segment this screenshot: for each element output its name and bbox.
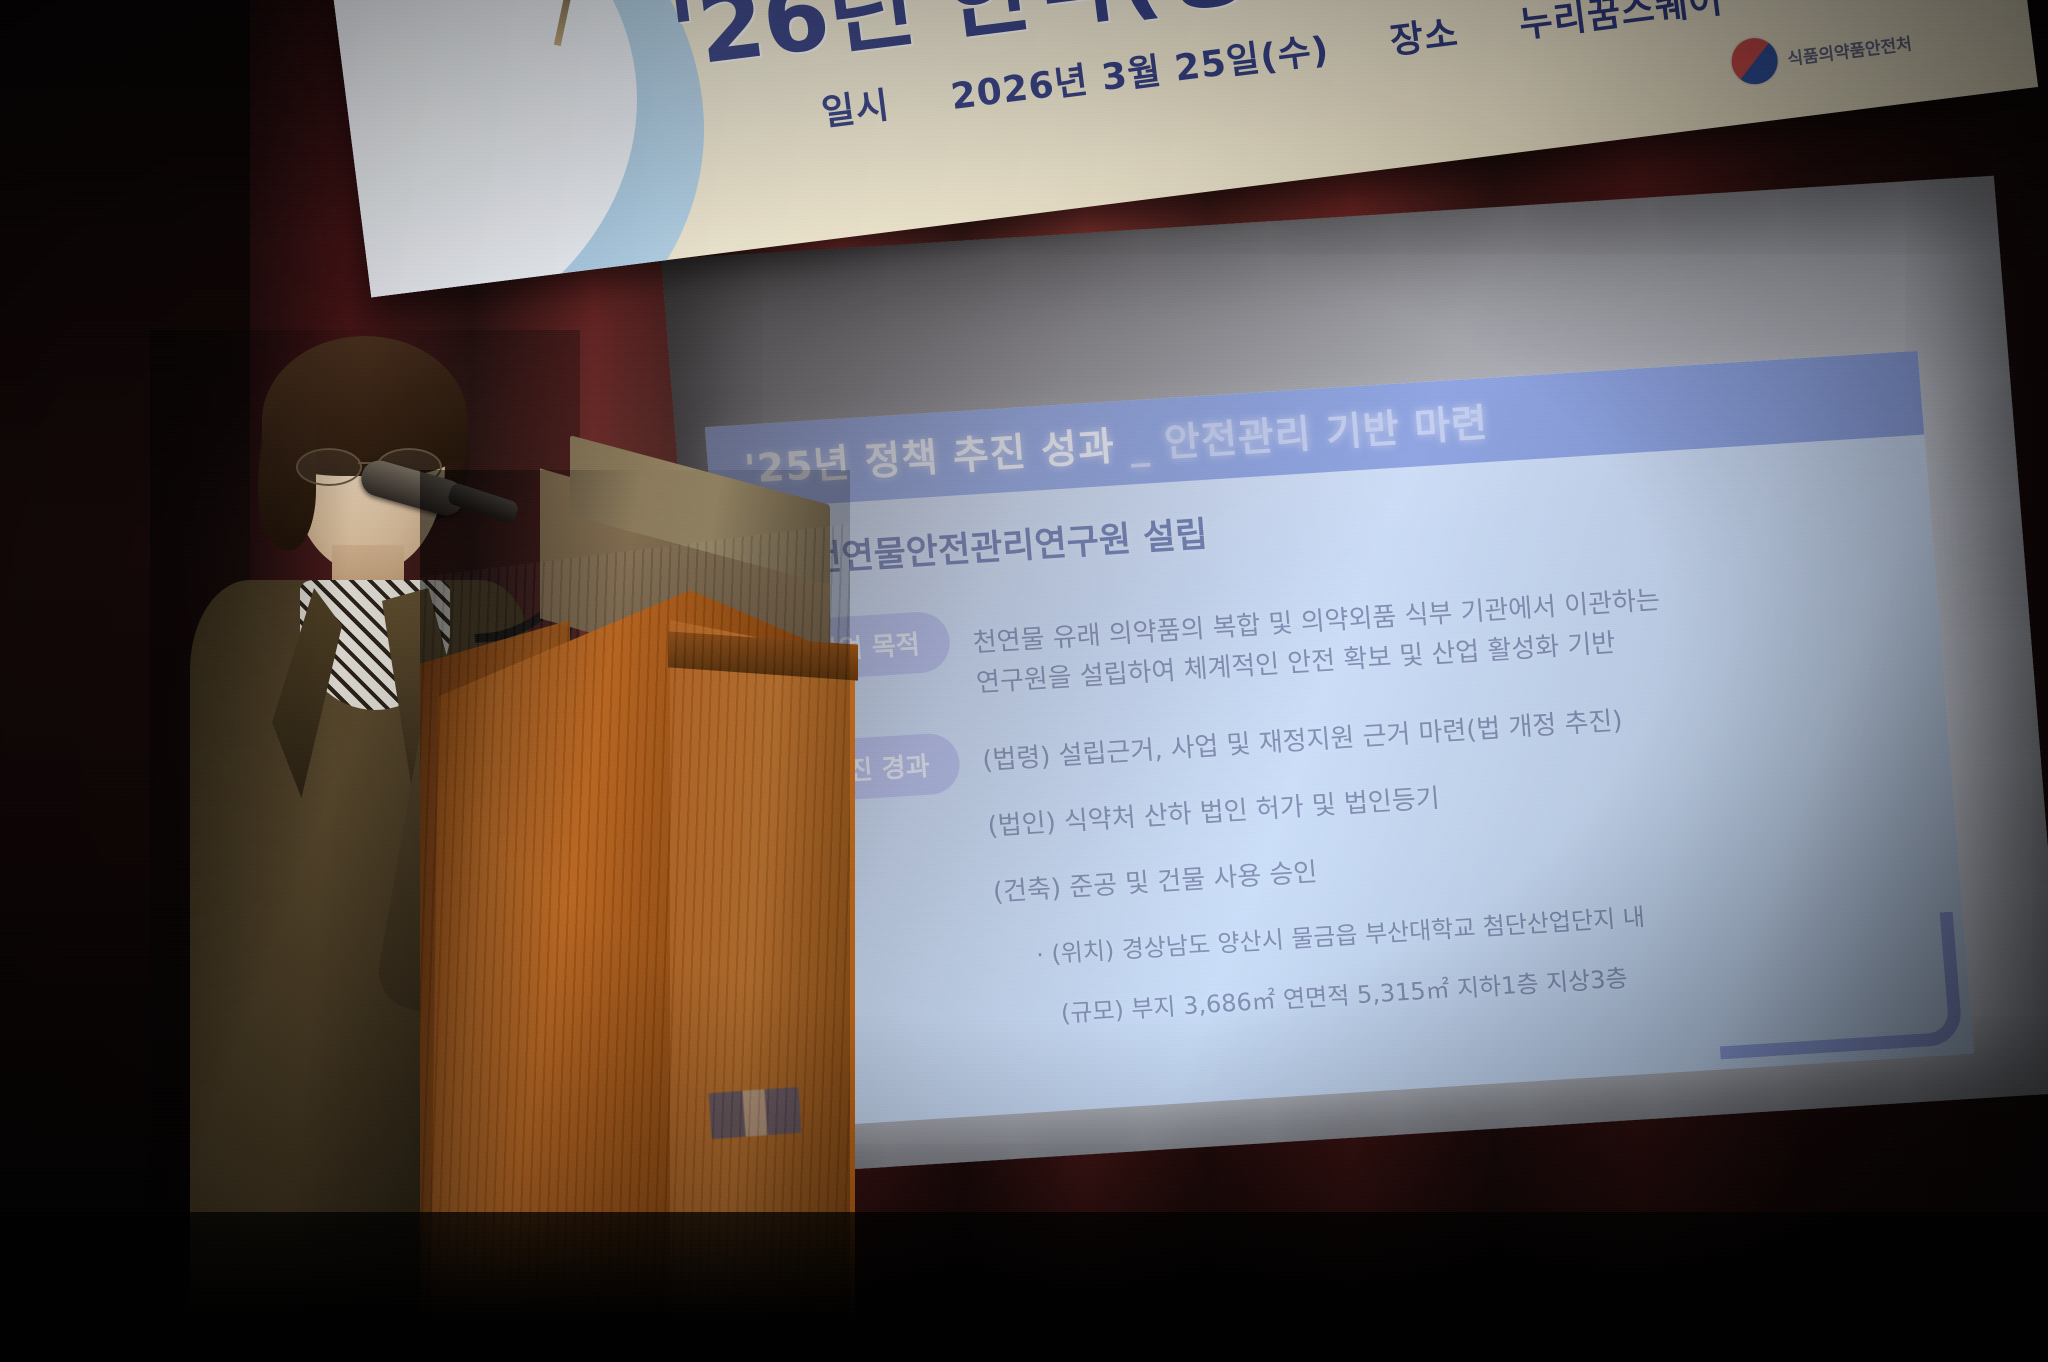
screen-surface: '25년 정책 추진 성과 _ 안전관리 기반 마련 1. 천연물안전관리연구원… — [661, 176, 2048, 1177]
taegeuk-icon — [1729, 35, 1780, 86]
banner-venue-label: 장소 — [1388, 13, 1461, 62]
slide-corner-accent — [1710, 912, 1963, 1060]
slide-header-band: '25년 정책 추진 성과 _ 안전관리 기반 마련 — [705, 351, 1925, 511]
slide-body-line-5: (건축) 준공 및 건물 사용 승인 — [991, 852, 1318, 909]
slide-body-line-4: (법인) 식약처 산하 법인 허가 및 법인등기 — [986, 778, 1441, 843]
slide-header-sub: _ 안전관리 기반 마련 — [1128, 401, 1490, 468]
government-logo-text: 식품의약품안전처 — [1786, 29, 1913, 69]
slide-header-text: '25년 정책 추진 성과 _ 안전관리 기반 마련 — [742, 392, 1490, 495]
podium-emblem-icon — [709, 1087, 802, 1139]
government-logo: 식품의약품안전처 — [1729, 19, 1914, 87]
stage-floor — [0, 1212, 2048, 1362]
slide-body-line-6: · (위치) 경상남도 양산시 물금읍 부산대학교 첨단산업단지 내 — [1035, 897, 1646, 970]
photo-scene: '25년 정책 추진 성과 _ 안전관리 기반 마련 1. 천연물안전관리연구원… — [0, 0, 2048, 1362]
presentation-slide: '25년 정책 추진 성과 _ 안전관리 기반 마련 1. 천연물안전관리연구원… — [705, 351, 1974, 1130]
eyeglass-lens-left — [296, 448, 362, 486]
banner-venue-value: 누리꿈스퀘어 — [1517, 0, 1725, 46]
slide-body-line-3: (법령) 설립근거, 사업 및 재정지원 근거 마련(법 개정 추진) — [981, 700, 1624, 777]
banner-date-label: 일시 — [819, 85, 892, 134]
slide-body-line-7: (규모) 부지 3,686㎡ 연면적 5,315㎡ 지하1층 지상3층 — [1059, 958, 1628, 1029]
